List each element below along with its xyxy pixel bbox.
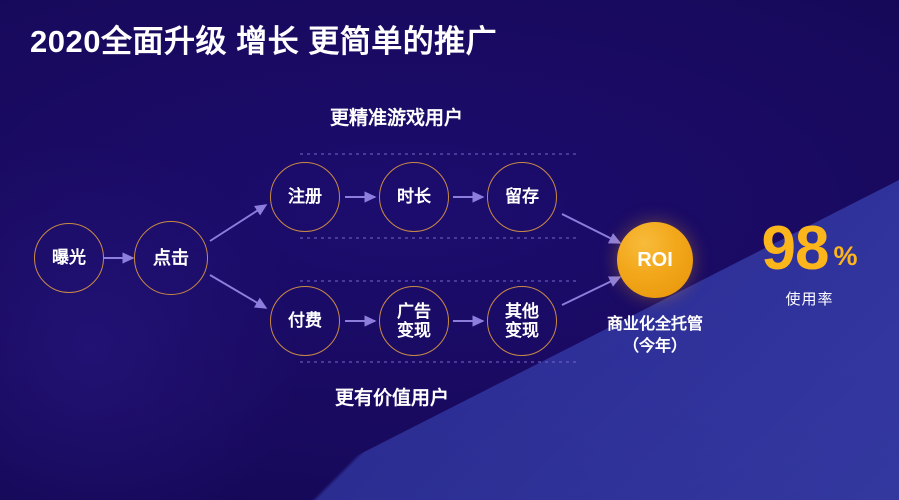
node-duration[interactable]: 时长 xyxy=(379,162,449,232)
arrow-click-to-register xyxy=(210,205,266,241)
group-label-bottom: 更有价值用户 xyxy=(335,383,449,410)
usage-rate-value-row: 98% xyxy=(742,218,877,280)
usage-rate-unit: % xyxy=(833,241,857,272)
node-payment-label: 付费 xyxy=(288,311,322,330)
background-glow-left xyxy=(0,140,300,500)
node-duration-label: 时长 xyxy=(397,187,431,206)
roi-caption-line1: 商业化全托管 xyxy=(585,314,725,336)
page-title: 2020全面升级 增长 更简单的推广 xyxy=(30,16,497,61)
node-roi-label: ROI xyxy=(637,249,673,272)
usage-rate-value: 98 xyxy=(762,218,829,280)
node-other-monetization-label-line1: 其他 xyxy=(505,302,539,321)
node-ad-monetization[interactable]: 广告 变现 xyxy=(379,286,449,356)
node-roi[interactable]: ROI xyxy=(617,222,693,298)
node-retention-label: 留存 xyxy=(505,187,539,206)
arrow-retention-to-roi xyxy=(562,214,620,243)
node-register-label: 注册 xyxy=(288,187,322,206)
node-exposure-label: 曝光 xyxy=(52,248,86,267)
usage-rate-label: 使用率 xyxy=(742,288,877,309)
arrow-other-to-roi xyxy=(562,277,620,305)
usage-rate-stat: 98% 使用率 xyxy=(742,218,877,309)
node-other-monetization[interactable]: 其他 变现 xyxy=(487,286,557,356)
node-ad-monetization-label-line2: 变现 xyxy=(397,321,431,340)
roi-caption: 商业化全托管 （今年） xyxy=(585,314,725,357)
node-retention[interactable]: 留存 xyxy=(487,162,557,232)
node-register[interactable]: 注册 xyxy=(270,162,340,232)
node-payment[interactable]: 付费 xyxy=(270,286,340,356)
node-click[interactable]: 点击 xyxy=(134,221,208,295)
roi-caption-line2: （今年） xyxy=(585,336,725,358)
node-ad-monetization-label-line1: 广告 xyxy=(397,302,431,321)
node-click-label: 点击 xyxy=(153,248,189,268)
arrow-click-to-payment xyxy=(210,275,266,308)
node-exposure[interactable]: 曝光 xyxy=(34,223,104,293)
group-label-top: 更精准游戏用户 xyxy=(330,103,463,130)
slide-canvas: 2020全面升级 增长 更简单的推广 更精准游戏用户 更有价值用户 曝光 xyxy=(0,0,899,500)
node-other-monetization-label-line2: 变现 xyxy=(505,321,539,340)
